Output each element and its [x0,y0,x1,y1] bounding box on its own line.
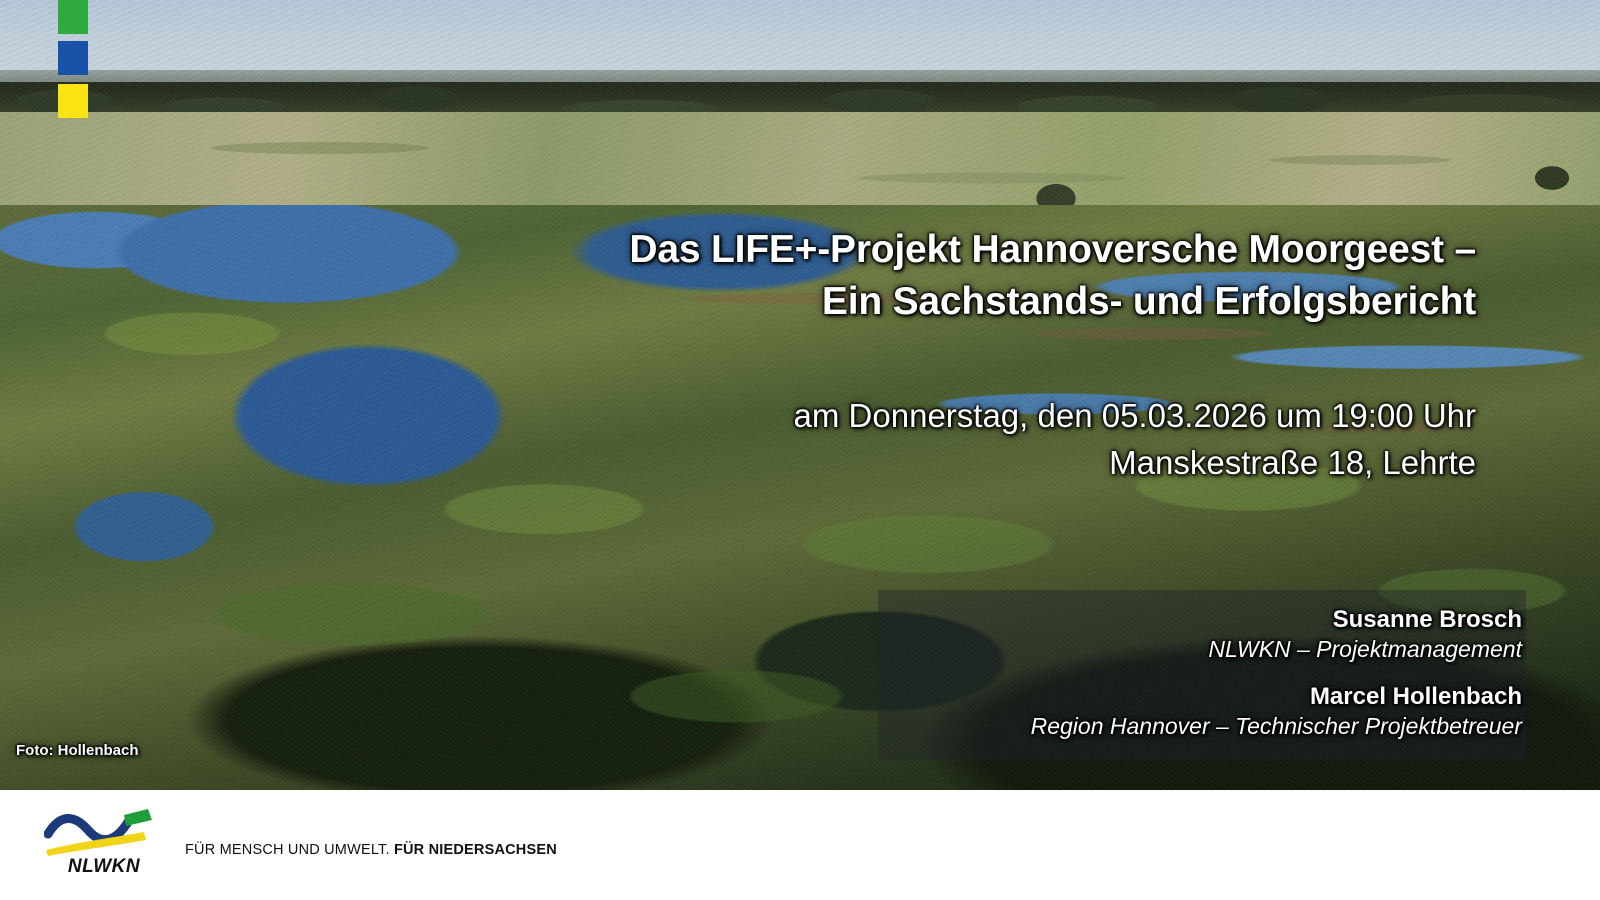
nlwkn-mark-icon [44,804,164,856]
event-poster: Das LIFE+-Projekt Hannoversche Moorgeest… [0,0,1600,900]
speaker-2-name: Marcel Hollenbach [702,681,1522,712]
title-line-1: Das LIFE+-Projekt Hannoversche Moorgeest… [296,224,1476,276]
photo-credit: Foto: Hollenbach [16,742,139,759]
nlwkn-claim-bold: FÜR NIEDERSACHSEN [394,842,557,858]
yellow-square-mark [58,84,88,118]
blue-square-mark [58,41,88,75]
speaker-spacer [702,665,1522,681]
nlwkn-claim-normal: FÜR MENSCH UND UMWELT. [185,842,394,858]
speaker-2-role: Region Hannover – Technischer Projektbet… [702,712,1522,742]
event-address: Manskestraße 18, Lehrte [296,440,1476,487]
nlwkn-wordmark: NLWKN [44,856,164,878]
speaker-1-name: Susanne Brosch [702,604,1522,635]
nlwkn-logo: NLWKN [44,804,164,880]
green-square-mark [58,0,88,34]
footer-logo-bar: NLWKN FÜR MENSCH UND UMWELT. FÜR NIEDERS… [0,790,1600,900]
event-details: am Donnerstag, den 05.03.2026 um 19:00 U… [296,393,1476,487]
event-date: am Donnerstag, den 05.03.2026 um 19:00 U… [296,393,1476,440]
speaker-list: Susanne Brosch NLWKN – Projektmanagement… [702,604,1522,742]
speaker-1-role: NLWKN – Projektmanagement [702,635,1522,665]
nlwkn-claim: FÜR MENSCH UND UMWELT. FÜR NIEDERSACHSEN [185,842,557,858]
poster-title: Das LIFE+-Projekt Hannoversche Moorgeest… [296,224,1476,329]
title-line-2: Ein Sachstands- und Erfolgsbericht [296,276,1476,328]
